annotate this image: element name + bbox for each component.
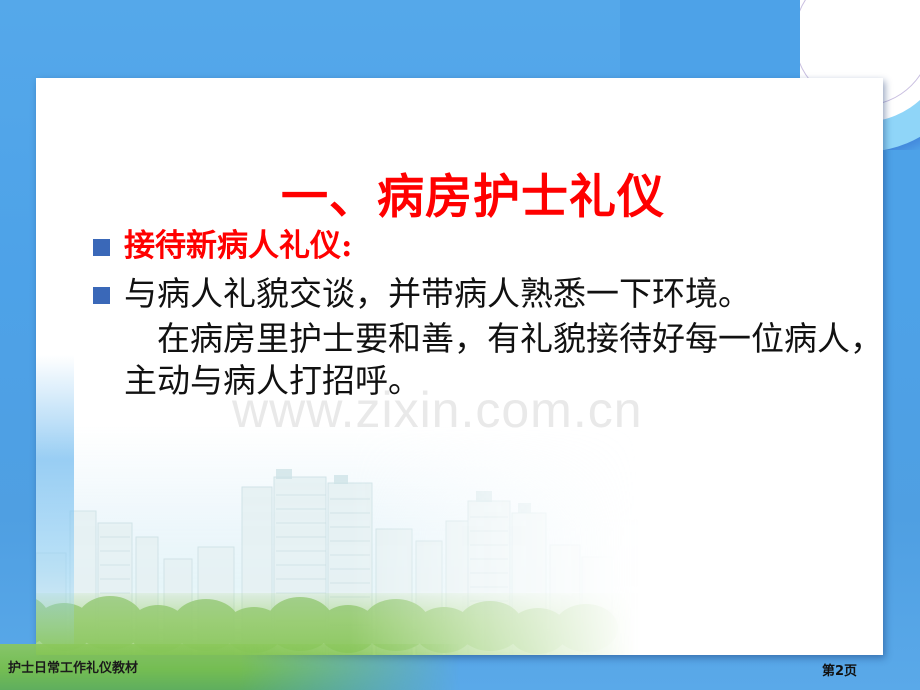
slide-canvas: www.zixin.com.cn 一、病房护士礼仪 接待新病人礼仪: 与病人礼貌…: [0, 0, 920, 690]
bullet-label: 接待新病人礼仪:: [124, 226, 352, 266]
square-bullet-icon: [93, 287, 110, 304]
body-paragraph: 在病房里护士要和善，有礼貌接待好每一位病人，主动与病人打招呼。: [124, 318, 883, 402]
bullet-label: 与病人礼貌交谈，并带病人熟悉一下环境。: [124, 274, 751, 314]
list-item: 与病人礼貌交谈，并带病人熟悉一下环境。: [93, 274, 751, 314]
list-item: 接待新病人礼仪:: [93, 226, 352, 266]
city-skyline-image: [36, 425, 638, 655]
corner-block-top: [620, 0, 800, 78]
content-panel: www.zixin.com.cn 一、病房护士礼仪 接待新病人礼仪: 与病人礼貌…: [36, 78, 883, 655]
left-blue-haze: [36, 355, 74, 655]
page-number: 第2页: [822, 660, 857, 679]
page-title: 一、病房护士礼仪: [281, 174, 665, 221]
square-bullet-icon: [93, 239, 110, 256]
footer-title: 护士日常工作礼仪教材: [8, 657, 138, 676]
